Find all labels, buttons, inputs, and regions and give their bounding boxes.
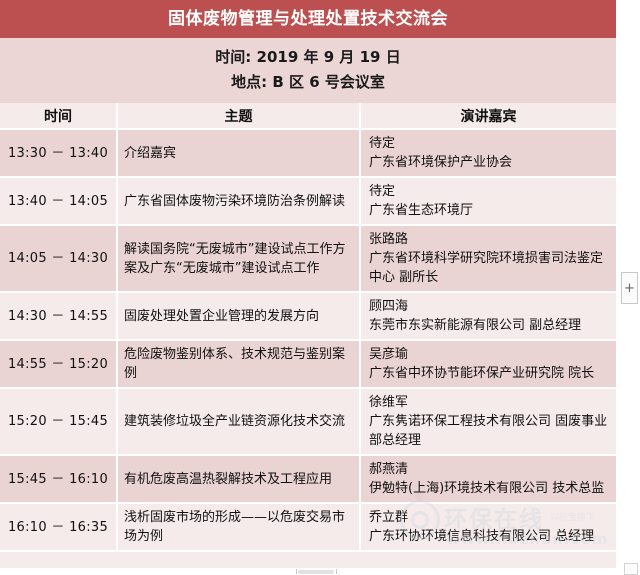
column-header-speaker: 演讲嘉宾 — [360, 103, 616, 129]
cell-speaker: 顾四海东莞市东实新能源有限公司 副总经理 — [360, 292, 616, 340]
cell-topic: 建筑装修垃圾全产业链资源化技术交流 — [117, 388, 360, 455]
cell-speaker: 徐维军广东隽诺环保工程技术有限公司 固废事业部总经理 — [360, 388, 616, 455]
meta-band: 时间: 2019 年 9 月 19 日 地点: B 区 6 号会议室 — [0, 38, 616, 103]
speaker-org: 广东省生态环境厅 — [369, 201, 610, 220]
cell-speaker: 待定广东省环境保护产业协会 — [360, 129, 616, 177]
scrollbar-tick-right — [336, 569, 337, 574]
plus-icon: + — [624, 282, 635, 295]
table-row: 15:45 － 16:10有机危废高温热裂解技术及工程应用郝燕清伊勉特(上海)环… — [0, 455, 616, 503]
table-row: 14:55 － 15:20危险废物鉴别体系、技术规范与鉴别案例吴彦瑜广东省中环协… — [0, 340, 616, 388]
meta-line-time: 时间: 2019 年 9 月 19 日 — [0, 45, 616, 70]
cell-topic: 介绍嘉宾 — [117, 129, 360, 177]
meta-line-place: 地点: B 区 6 号会议室 — [0, 70, 616, 95]
cell-speaker: 吴彦瑜广东省中环协节能环保产业研究院 院长 — [360, 340, 616, 388]
agenda-table-head: 时间 主题 演讲嘉宾 — [0, 103, 616, 129]
cell-time: 15:20 － 15:45 — [0, 388, 117, 455]
cell-topic: 广东省固体废物污染环境防治条例解读 — [117, 177, 360, 225]
cell-topic: 解读国务院“无废城市”建设试点工作方案及广东“无废城市”建设试点工作 — [117, 225, 360, 292]
speaker-name: 待定 — [369, 182, 610, 201]
cell-time: 15:45 － 16:10 — [0, 455, 117, 503]
table-row: 13:30 － 13:40介绍嘉宾待定广东省环境保护产业协会 — [0, 129, 616, 177]
speaker-name: 待定 — [369, 134, 610, 153]
cell-time: 14:55 － 15:20 — [0, 340, 117, 388]
agenda-table-body: 13:30 － 13:40介绍嘉宾待定广东省环境保护产业协会13:40 － 14… — [0, 129, 616, 551]
cell-time: 16:10 － 16:35 — [0, 503, 117, 551]
table-row: 14:05 － 14:30解读国务院“无废城市”建设试点工作方案及广东“无废城市… — [0, 225, 616, 292]
cell-time: 13:30 － 13:40 — [0, 129, 117, 177]
table-row: 13:40 － 14:05广东省固体废物污染环境防治条例解读待定广东省生态环境厅 — [0, 177, 616, 225]
scrollbar-tick-left — [296, 569, 297, 574]
speaker-name: 吴彦瑜 — [369, 345, 610, 364]
speaker-org: 东莞市东实新能源有限公司 副总经理 — [369, 316, 610, 335]
speaker-org: 广东省环境保护产业协会 — [369, 153, 610, 172]
cell-time: 14:05 － 14:30 — [0, 225, 117, 292]
column-header-topic: 主题 — [117, 103, 360, 129]
cell-speaker: 郝燕清伊勉特(上海)环境技术有限公司 技术总监 — [360, 455, 616, 503]
table-header-row: 时间 主题 演讲嘉宾 — [0, 103, 616, 129]
speaker-org: 广东隽诺环保工程技术有限公司 固废事业部总经理 — [369, 412, 610, 450]
cell-topic: 危险废物鉴别体系、技术规范与鉴别案例 — [117, 340, 360, 388]
table-row: 16:10 － 16:35浅析固废市场的形成——以危废交易市场为例乔立群广东环协… — [0, 503, 616, 551]
table-row: 14:30 － 14:55固废处理处置企业管理的发展方向顾四海东莞市东实新能源有… — [0, 292, 616, 340]
speaker-org: 广东环协环境信息科技有限公司 总经理 — [369, 527, 610, 546]
cell-speaker: 张路路广东省环境科学研究院环境损害司法鉴定中心 副所长 — [360, 225, 616, 292]
speaker-name: 郝燕清 — [369, 460, 610, 479]
speaker-name: 徐维军 — [369, 393, 610, 412]
speaker-name: 张路路 — [369, 230, 610, 249]
speaker-name: 顾四海 — [369, 297, 610, 316]
viewer-corner-resizer[interactable] — [624, 563, 638, 575]
page-title: 固体废物管理与处理处置技术交流会 — [168, 11, 448, 28]
horizontal-scrollbar[interactable] — [0, 568, 616, 575]
cell-speaker: 待定广东省生态环境厅 — [360, 177, 616, 225]
cell-speaker: 乔立群广东环协环境信息科技有限公司 总经理 — [360, 503, 616, 551]
speaker-org: 伊勉特(上海)环境技术有限公司 技术总监 — [369, 479, 610, 498]
column-header-time: 时间 — [0, 103, 117, 129]
agenda-document: 固体废物管理与处理处置技术交流会 时间: 2019 年 9 月 19 日 地点:… — [0, 0, 616, 575]
speaker-org: 广东省环境科学研究院环境损害司法鉴定中心 副所长 — [369, 249, 610, 287]
speaker-name: 乔立群 — [369, 508, 610, 527]
speaker-org: 广东省中环协节能环保产业研究院 院长 — [369, 364, 610, 383]
cell-topic: 固废处理处置企业管理的发展方向 — [117, 292, 360, 340]
cell-topic: 浅析固废市场的形成——以危废交易市场为例 — [117, 503, 360, 551]
scrollbar-thumb[interactable] — [298, 570, 334, 574]
table-row: 15:20 － 15:45建筑装修垃圾全产业链资源化技术交流徐维军广东隽诺环保工… — [0, 388, 616, 455]
cell-topic: 有机危废高温热裂解技术及工程应用 — [117, 455, 360, 503]
document-title-banner: 固体废物管理与处理处置技术交流会 — [0, 0, 616, 38]
zoom-in-button[interactable]: + — [621, 272, 638, 304]
cell-time: 13:40 － 14:05 — [0, 177, 117, 225]
cell-time: 14:30 － 14:55 — [0, 292, 117, 340]
agenda-table: 时间 主题 演讲嘉宾 13:30 － 13:40介绍嘉宾待定广东省环境保护产业协… — [0, 103, 616, 552]
